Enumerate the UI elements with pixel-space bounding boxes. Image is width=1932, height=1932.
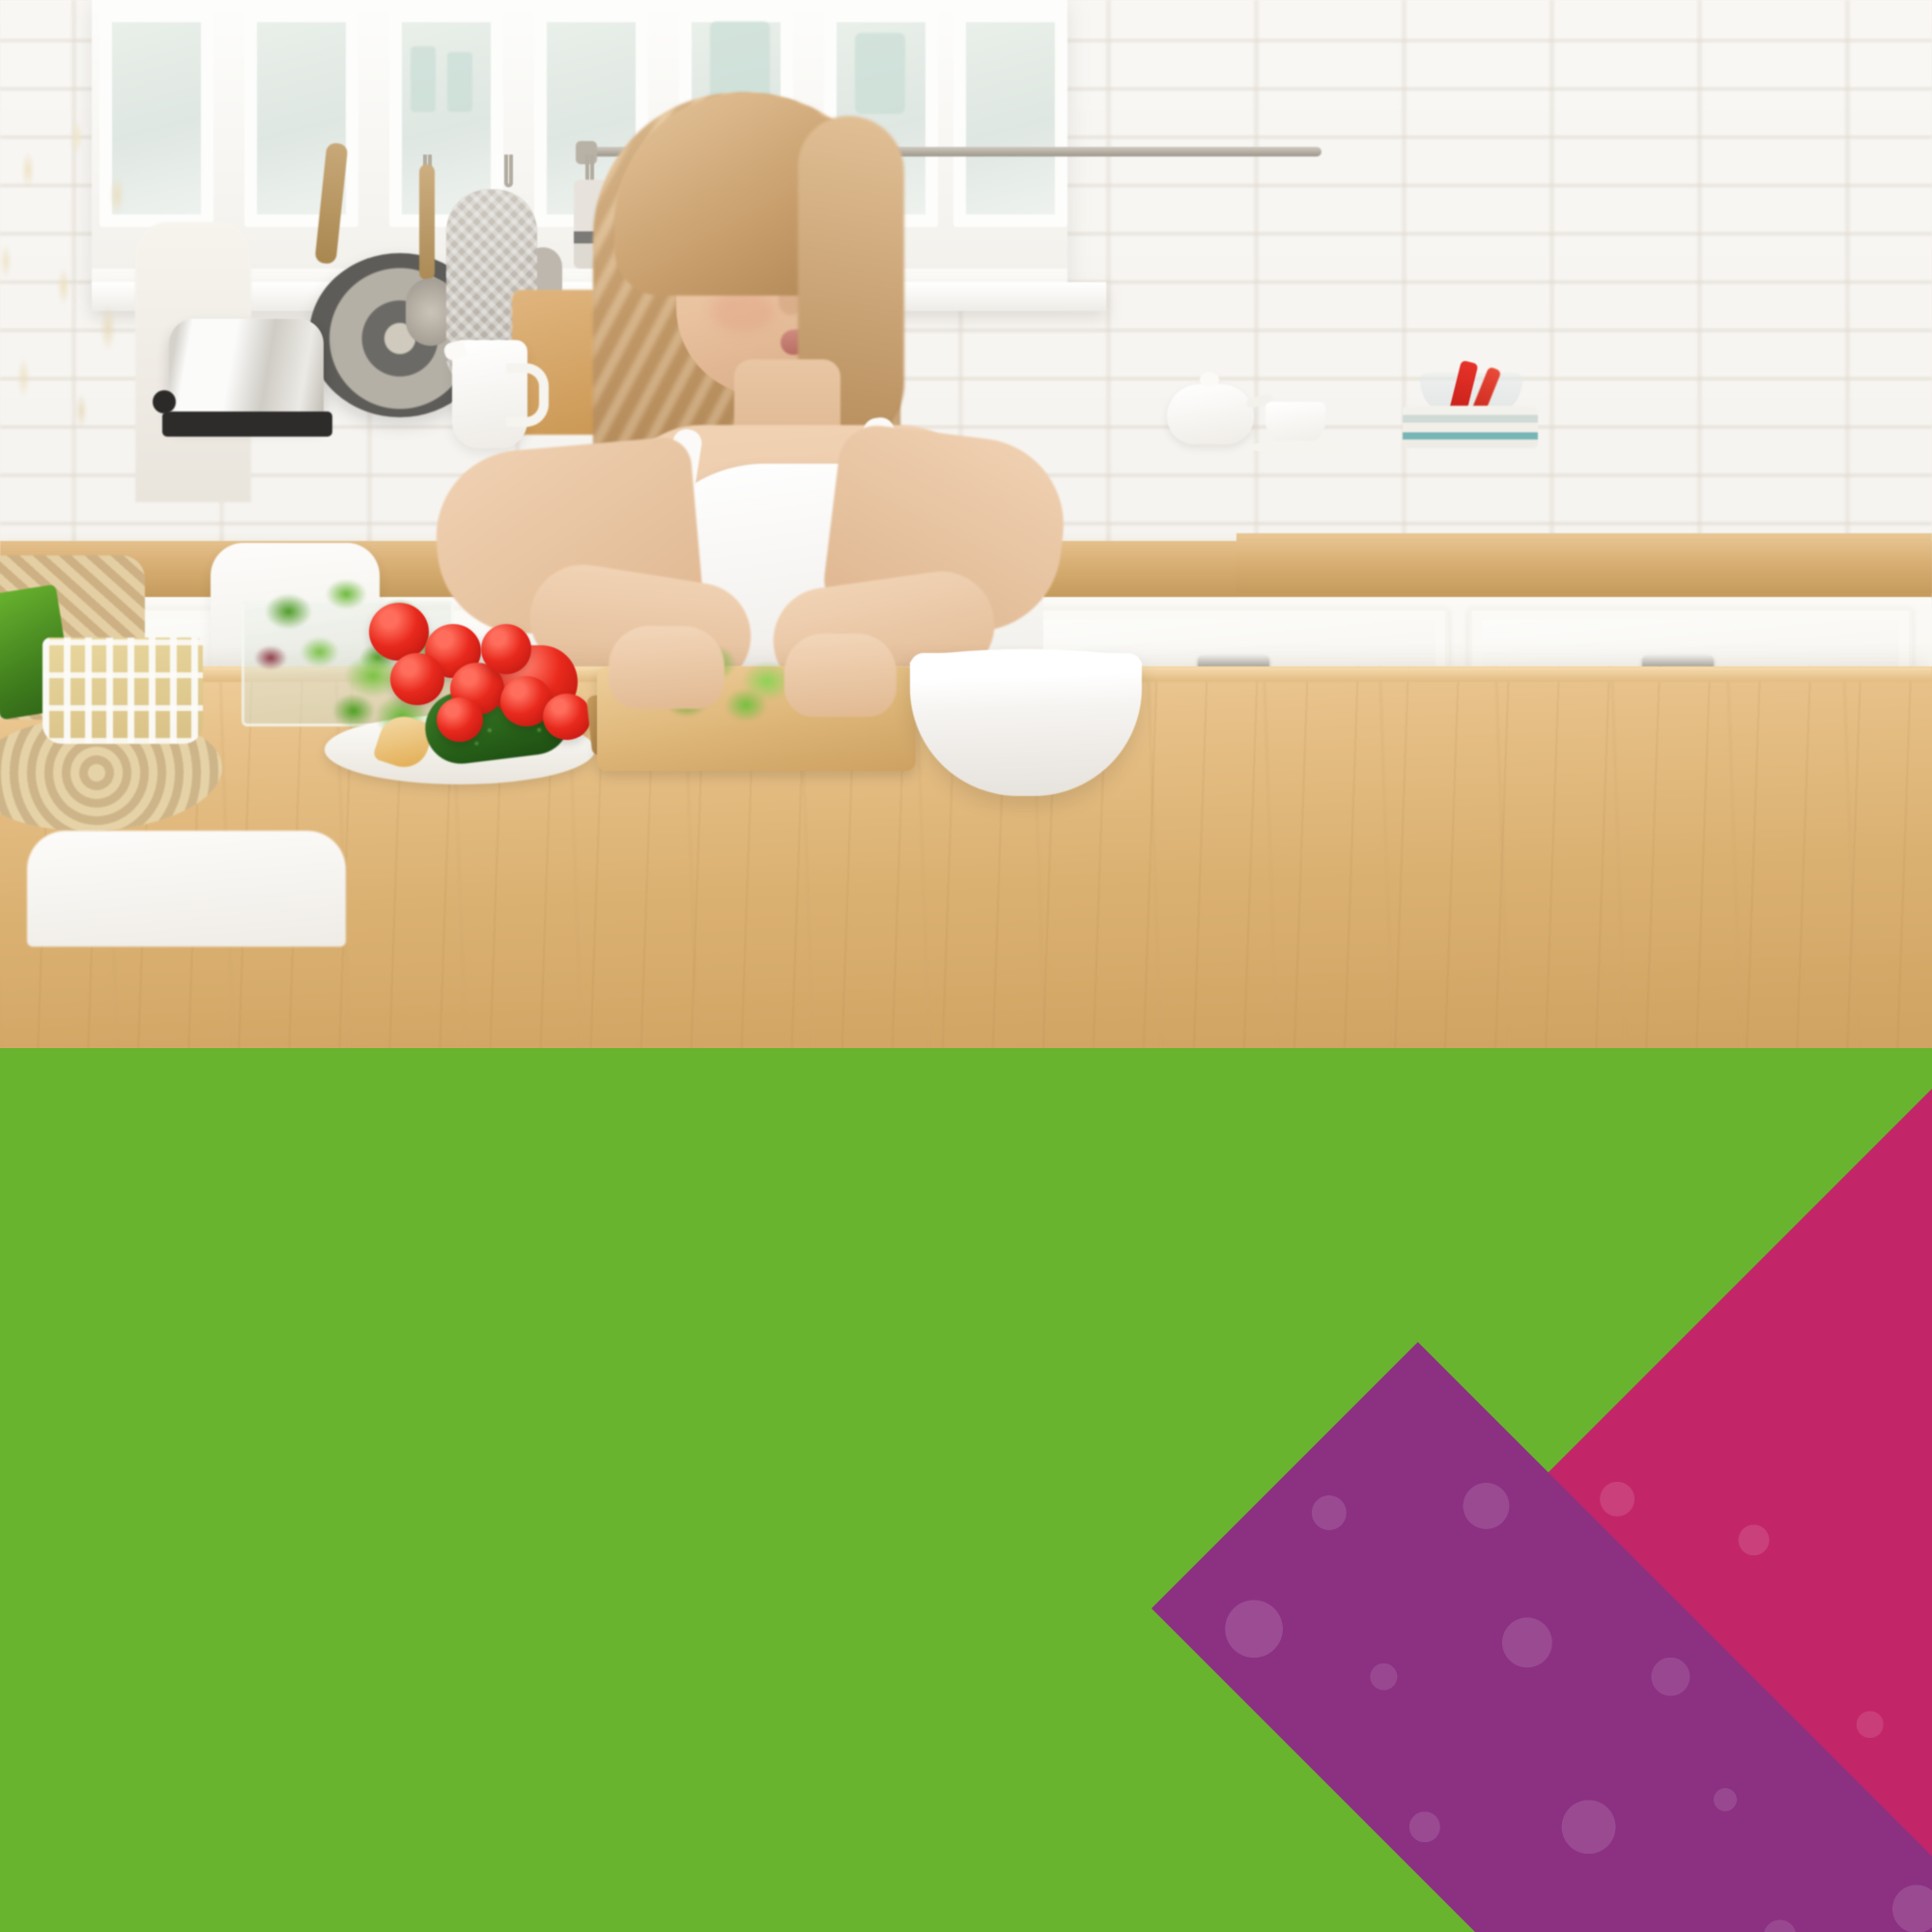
back-countertop-right bbox=[1236, 533, 1932, 593]
cherry-tomato bbox=[543, 694, 591, 740]
cherry-tomato bbox=[390, 653, 444, 705]
teacup bbox=[1265, 402, 1325, 444]
cherry-tomato bbox=[437, 697, 483, 742]
kitchen-photo bbox=[0, 0, 1932, 1048]
toaster-knob bbox=[153, 390, 176, 413]
hand-right bbox=[784, 634, 896, 717]
cherry-tomato bbox=[481, 624, 531, 674]
white-pitcher bbox=[452, 340, 527, 448]
cherry-tomato bbox=[369, 603, 429, 661]
cheek-blush bbox=[711, 290, 775, 332]
fiber-infographic-poster: Why is FIBER important? Help regulate yo… bbox=[0, 0, 1932, 1932]
strainer-handle bbox=[419, 164, 435, 280]
rail-hook bbox=[504, 155, 513, 187]
hand-left bbox=[609, 626, 724, 709]
bowl-rim bbox=[910, 649, 1142, 678]
green-content-panel: Why is FIBER important? Help regulate yo… bbox=[0, 1048, 1932, 1932]
teapot bbox=[1167, 384, 1254, 444]
saucer bbox=[1248, 440, 1349, 454]
toaster bbox=[169, 319, 324, 425]
chair-foreground bbox=[27, 831, 346, 947]
wire-basket bbox=[43, 638, 203, 744]
toaster-base bbox=[162, 412, 332, 437]
stacked-plates bbox=[1403, 406, 1538, 448]
